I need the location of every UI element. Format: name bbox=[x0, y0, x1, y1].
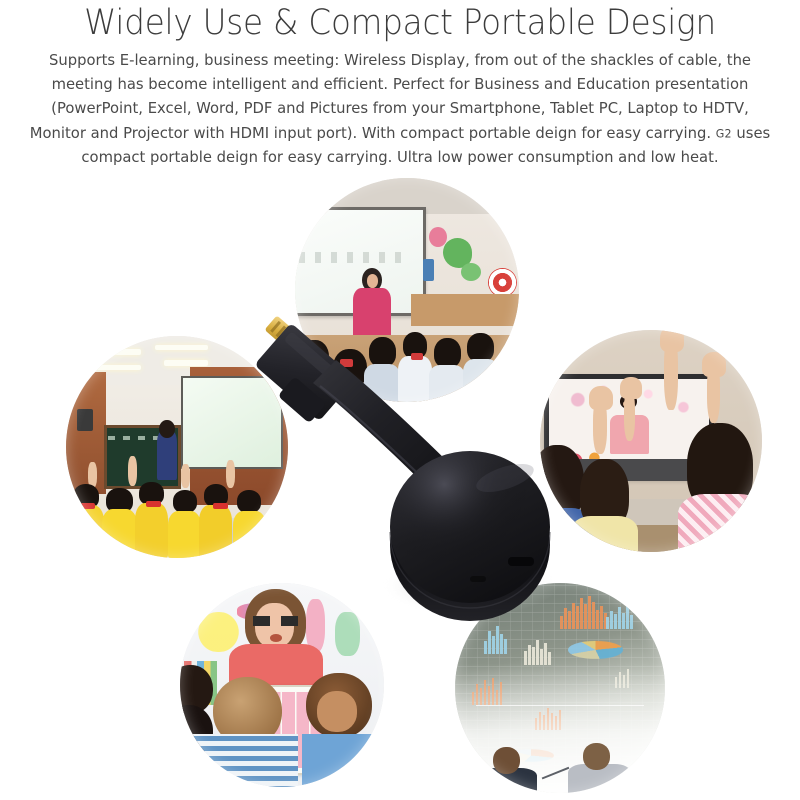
product-description: Supports E-learning, business meeting: W… bbox=[29, 48, 770, 170]
photo-students-raising-hands-flatpanel bbox=[540, 330, 762, 552]
product-marketing-page: Widely Use & Compact Portable Design Sup… bbox=[0, 0, 800, 800]
photo-business-data-presentation bbox=[455, 583, 665, 793]
puck-body bbox=[390, 451, 550, 603]
description-part-1: Supports E-learning, business meeting: W… bbox=[30, 51, 751, 142]
pupil-row bbox=[66, 460, 288, 558]
photo-classroom-projector-teacher bbox=[295, 178, 519, 402]
glasses-icon bbox=[253, 616, 298, 626]
photo-lecture-hall-yellow-uniforms bbox=[66, 336, 288, 558]
micro-usb-port bbox=[508, 557, 534, 566]
model-name: G2 bbox=[716, 126, 732, 140]
speaker-icon bbox=[77, 409, 93, 431]
photo-preschool-teacher-letter-chart bbox=[180, 583, 384, 787]
pupil-row bbox=[295, 326, 519, 402]
projection-screen bbox=[181, 376, 283, 469]
page-title: Widely Use & Compact Portable Design bbox=[28, 2, 772, 44]
